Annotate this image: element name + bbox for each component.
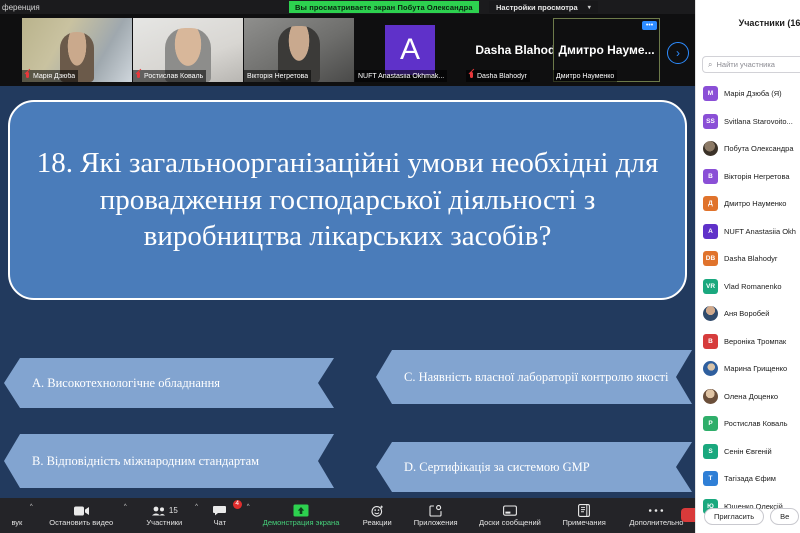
avatar: DB	[703, 251, 718, 266]
answer-option-c[interactable]: C. Наявність власної лабораторії контрол…	[376, 350, 692, 404]
toolbar-notes[interactable]: Примечания	[550, 498, 617, 533]
participant-row[interactable]: Олена Доценко	[696, 383, 800, 411]
participant-name: Dasha Blahodyr	[724, 254, 777, 263]
avatar: M	[703, 86, 718, 101]
chat-unread-badge: 4	[233, 500, 242, 509]
avatar: T	[703, 471, 718, 486]
tile-name: Вікторія Негретова	[247, 73, 308, 80]
participant-name: Svitlana Starovoito...	[724, 117, 793, 126]
participant-name: Марія Дзюба (Я)	[724, 89, 782, 98]
chevron-down-icon: ▾	[588, 4, 591, 11]
participants-panel: Участники (16 ⌕ Найти участника M Марія …	[695, 0, 800, 533]
avatar	[703, 141, 718, 156]
apps-icon	[429, 504, 442, 517]
tile-nameplate: NUFT Anastasiia Okhmak...	[355, 70, 447, 82]
video-filmstrip: Марія Дзюба Ростислав Коваль Вікторія Не…	[0, 14, 695, 86]
participant-row[interactable]: M Марія Дзюба (Я)	[696, 80, 800, 108]
notes-icon	[578, 504, 590, 517]
participant-name: Аня Воробей	[724, 309, 769, 318]
video-tile[interactable]: Ростислав Коваль	[133, 18, 243, 82]
participant-row[interactable]: A NUFT Anastasiia Okh	[696, 218, 800, 246]
tile-nameplate: Марія Дзюба	[22, 70, 78, 82]
tile-nameplate: Ростислав Коваль	[133, 70, 206, 82]
participant-row[interactable]: Аня Воробей	[696, 300, 800, 328]
video-tile-active-speaker[interactable]: Дмитро Науме... ••• Дмитро Науменко	[553, 18, 660, 82]
participant-name: NUFT Anastasiia Okh	[724, 227, 796, 236]
participant-row[interactable]: VR Vlad Romanenko	[696, 273, 800, 301]
toolbar-audio-label: вук	[11, 519, 22, 527]
participant-name: Вікторія Негретова	[724, 172, 790, 181]
toolbar-notes-label: Примечания	[562, 519, 605, 527]
question-text: 18. Які загальноорганізаційні умови необ…	[32, 145, 663, 255]
tile-more-options-icon[interactable]: •••	[642, 21, 657, 30]
avatar	[703, 361, 718, 376]
avatar: S	[703, 444, 718, 459]
chevron-up-icon[interactable]: ^	[124, 504, 127, 510]
camera-icon	[74, 504, 89, 517]
participant-search-input[interactable]: ⌕ Найти участника	[702, 56, 800, 73]
avatar	[703, 306, 718, 321]
participants-panel-title: Участники (16	[696, 18, 800, 28]
participant-row[interactable]: T Тагізада Єфим	[696, 465, 800, 493]
participant-search-placeholder: Найти участника	[716, 60, 774, 69]
participant-name: Тагізада Єфим	[724, 474, 776, 483]
search-icon: ⌕	[708, 60, 712, 70]
toolbar-apps[interactable]: Приложения	[402, 498, 469, 533]
participant-name: Марина Грищенко	[724, 364, 787, 373]
video-tile[interactable]: Вікторія Негретова	[244, 18, 354, 82]
participant-name: Дмитро Науменко	[724, 199, 786, 208]
participant-row[interactable]: DB Dasha Blahodyr	[696, 245, 800, 273]
view-options-label: Настройки просмотра	[496, 3, 578, 12]
participant-row[interactable]: S Сенін Євгеній	[696, 438, 800, 466]
participant-row[interactable]: Побута Олександра	[696, 135, 800, 163]
toolbar-share-screen-label: Демонстрация экрана	[263, 519, 340, 527]
toolbar-more-label: Дополнительно	[629, 519, 683, 527]
whiteboard-icon	[503, 504, 517, 517]
meeting-title: ференция	[0, 3, 40, 12]
screen-share-notice: Вы просматриваете экран Побута Олександр…	[289, 1, 479, 13]
mic-muted-icon	[25, 72, 30, 80]
avatar: Д	[703, 196, 718, 211]
chat-icon	[213, 504, 226, 517]
participants-count: 15	[169, 506, 178, 515]
participants-list[interactable]: M Марія Дзюба (Я) SS Svitlana Starovoito…	[696, 80, 800, 520]
tile-nameplate: Dasha Blahodyr	[466, 70, 530, 82]
toolbar-whiteboards-label: Доски сообщений	[479, 519, 541, 527]
participant-name: Вероніка Тромпак	[724, 337, 786, 346]
participant-name: Сенін Євгеній	[724, 447, 772, 456]
toolbar-stop-video-label: Остановить видео	[49, 519, 113, 527]
toolbar-chat-label: Чат	[214, 519, 226, 527]
share-screen-icon	[293, 504, 309, 517]
avatar: В	[703, 334, 718, 349]
chevron-up-icon[interactable]: ^	[195, 504, 198, 510]
avatar: VR	[703, 279, 718, 294]
video-tile[interactable]: A NUFT Anastasiia Okhmak...	[355, 18, 465, 82]
toolbar-stop-video[interactable]: Остановить видео ^	[34, 498, 129, 533]
toolbar-participants[interactable]: 15 Участники ^	[129, 498, 200, 533]
avatar-initial: A	[385, 25, 435, 75]
participant-name: Олена Доценко	[724, 392, 778, 401]
participant-row[interactable]: Р Ростислав Коваль	[696, 410, 800, 438]
toolbar-audio[interactable]: вук ^	[0, 498, 34, 533]
shared-screen-slide: 18. Які загальноорганізаційні умови необ…	[0, 86, 695, 498]
toolbar-participants-label: Участники	[146, 519, 182, 527]
toolbar-apps-label: Приложения	[414, 519, 458, 527]
zoom-meeting-window: ференция Вы просматриваете экран Побута …	[0, 0, 800, 533]
tile-name: Ростислав Коваль	[144, 73, 203, 80]
participants-panel-footer: Пригласить Ве	[696, 508, 800, 525]
invite-button[interactable]: Пригласить	[704, 508, 764, 525]
tile-name: Марія Дзюба	[33, 73, 75, 80]
chevron-up-icon[interactable]: ^	[30, 504, 33, 510]
avatar: B	[703, 169, 718, 184]
participant-row[interactable]: B Вікторія Негретова	[696, 163, 800, 191]
avatar: A	[703, 224, 718, 239]
filmstrip-next-button[interactable]: ›	[667, 42, 689, 64]
video-tile[interactable]: Марія Дзюба	[22, 18, 132, 82]
toolbar-chat[interactable]: Чат 4 ^	[200, 498, 240, 533]
participant-row[interactable]: В Вероніка Тромпак	[696, 328, 800, 356]
avatar	[703, 389, 718, 404]
toolbar-whiteboards[interactable]: Доски сообщений	[469, 498, 550, 533]
more-icon	[648, 504, 664, 517]
view-options-button[interactable]: Настройки просмотра ▾	[489, 1, 598, 13]
participants-icon: 15	[151, 504, 178, 517]
participant-name: Vlad Romanenko	[724, 282, 782, 291]
tile-name: Dasha Blahodyr	[477, 73, 527, 80]
participant-name: Побута Олександра	[724, 144, 794, 153]
avatar: Р	[703, 416, 718, 431]
participant-row[interactable]: Марина Грищенко	[696, 355, 800, 383]
answer-option-d[interactable]: D. Сертифікація за системою GMP	[376, 442, 692, 492]
mic-muted-icon	[469, 72, 474, 80]
participant-name: Ростислав Коваль	[724, 419, 787, 428]
secondary-button[interactable]: Ве	[770, 508, 799, 525]
participant-row[interactable]: Д Дмитро Науменко	[696, 190, 800, 218]
reactions-icon	[371, 504, 384, 517]
answer-option-a[interactable]: A. Високотехнологічне обладнання	[4, 358, 334, 408]
avatar: SS	[703, 114, 718, 129]
meeting-toolbar: вук ^ Остановить видео ^ 15 Участники ^ …	[0, 498, 695, 533]
toolbar-share-screen[interactable]: Демонстрация экрана	[250, 498, 353, 533]
tile-name: Дмитро Науменко	[556, 73, 614, 80]
question-box: 18. Які загальноорганізаційні умови необ…	[8, 100, 687, 300]
tile-nameplate: Вікторія Негретова	[244, 70, 311, 82]
toolbar-reactions[interactable]: Реакции	[353, 498, 403, 533]
answer-option-b[interactable]: B. Відповідність міжнародним стандартам	[4, 434, 334, 488]
participant-row[interactable]: SS Svitlana Starovoito...	[696, 108, 800, 136]
tile-nameplate: Дмитро Науменко	[553, 70, 617, 82]
tile-name: NUFT Anastasiia Okhmak...	[358, 73, 444, 80]
mic-muted-icon	[136, 72, 141, 80]
toolbar-reactions-label: Реакции	[363, 519, 392, 527]
